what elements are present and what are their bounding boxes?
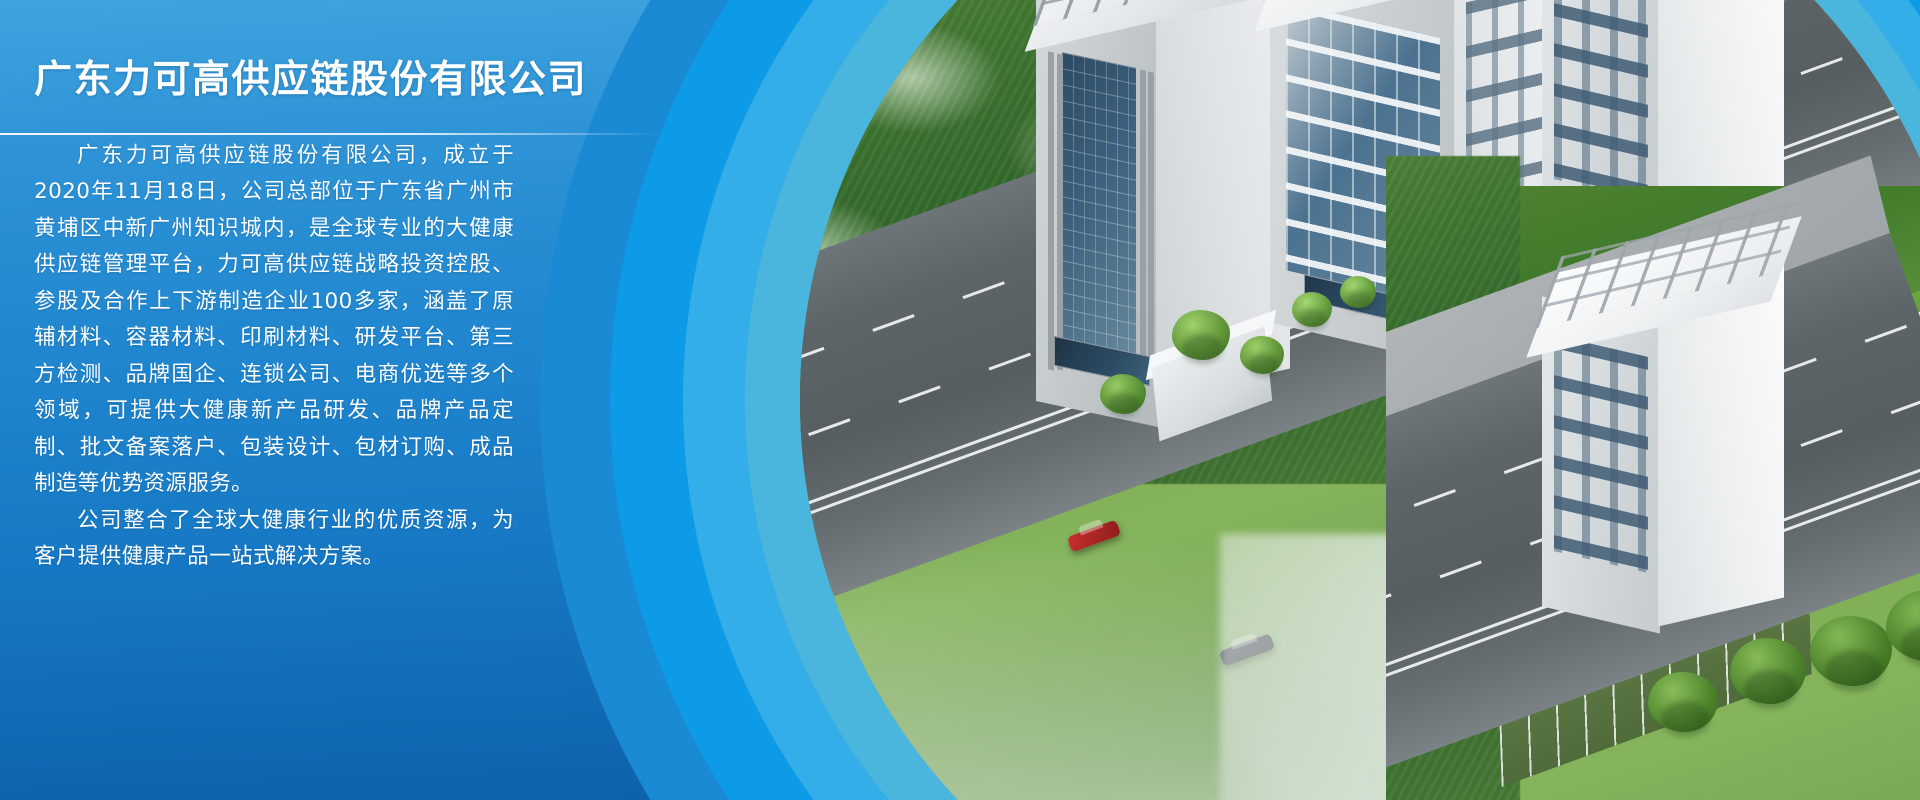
company-description: 广东力可高供应链股份有限公司，成立于2020年11月18日，公司总部位于广东省广… <box>34 138 514 576</box>
company-profile-banner: 广东力可高供应链股份有限公司 广东力可高供应链股份有限公司，成立于2020年11… <box>0 0 1920 800</box>
tree <box>1292 292 1332 327</box>
description-paragraph-1: 广东力可高供应链股份有限公司，成立于2020年11月18日，公司总部位于广东省广… <box>34 138 514 503</box>
tree <box>1240 336 1284 374</box>
tower-curtain-wall <box>1062 52 1136 368</box>
facade-fin <box>1057 53 1063 370</box>
company-intro-panel: 广东力可高供应链股份有限公司 广东力可高供应链股份有限公司，成立于2020年11… <box>0 0 660 800</box>
building3-window-grid <box>1554 335 1648 573</box>
facade-fin <box>1148 71 1154 370</box>
tree <box>1100 374 1146 414</box>
description-paragraph-2: 公司整合了全球大健康行业的优质资源，为客户提供健康产品一站式解决方案。 <box>34 503 514 576</box>
tree <box>1730 638 1806 704</box>
facility-photo-right-extension <box>1386 0 1920 800</box>
title-divider-rule <box>0 133 660 135</box>
tree <box>1340 276 1376 308</box>
facility-photo-scene-extension <box>1386 186 1920 800</box>
rear-building <box>1542 270 1792 630</box>
tree <box>1648 672 1718 732</box>
facade-fin <box>1048 51 1054 370</box>
facade-fin <box>1140 69 1146 370</box>
tree <box>1810 616 1892 686</box>
tree <box>1172 310 1230 360</box>
company-title: 广东力可高供应链股份有限公司 <box>34 56 640 104</box>
